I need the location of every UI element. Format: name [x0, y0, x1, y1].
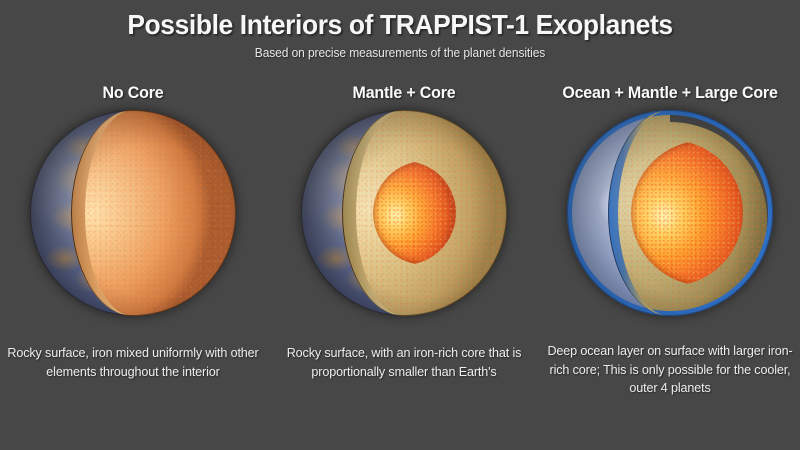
page-subtitle: Based on precise measurements of the pla…	[16, 41, 784, 60]
cutaway-edge-outline	[342, 110, 467, 316]
column-heading-ocean-mantle-large-core: Ocean + Mantle + Large Core	[544, 84, 796, 103]
column-heading-no-core: No Core	[6, 84, 260, 103]
header: Possible Interiors of TRAPPIST-1 Exoplan…	[0, 0, 800, 60]
column-caption-no-core: Rocky surface, iron mixed uniformly with…	[6, 344, 260, 381]
cutaway-edge-outline	[71, 110, 196, 316]
column-heading-mantle-core: Mantle + Core	[274, 84, 534, 103]
planet-diagram-no-core	[30, 110, 236, 316]
cutaway-edge-outline	[608, 110, 733, 316]
infographic-canvas: Possible Interiors of TRAPPIST-1 Exoplan…	[0, 0, 800, 450]
planet-diagram-mantle-core	[301, 110, 507, 316]
column-mantle-core: Mantle + Core	[270, 84, 538, 450]
column-caption-ocean-mantle-large-core: Deep ocean layer on surface with larger …	[544, 342, 796, 398]
column-ocean-mantle-large-core: Ocean + Mantle + Large Core	[540, 84, 800, 450]
column-caption-mantle-core: Rocky surface, with an iron-rich core th…	[274, 344, 534, 381]
page-title: Possible Interiors of TRAPPIST-1 Exoplan…	[16, 0, 784, 41]
interior-model-columns: No Core Rocky surfa	[0, 84, 800, 450]
planet-diagram-ocean-mantle-large-core	[567, 110, 773, 316]
column-no-core: No Core Rocky surfa	[2, 84, 264, 450]
